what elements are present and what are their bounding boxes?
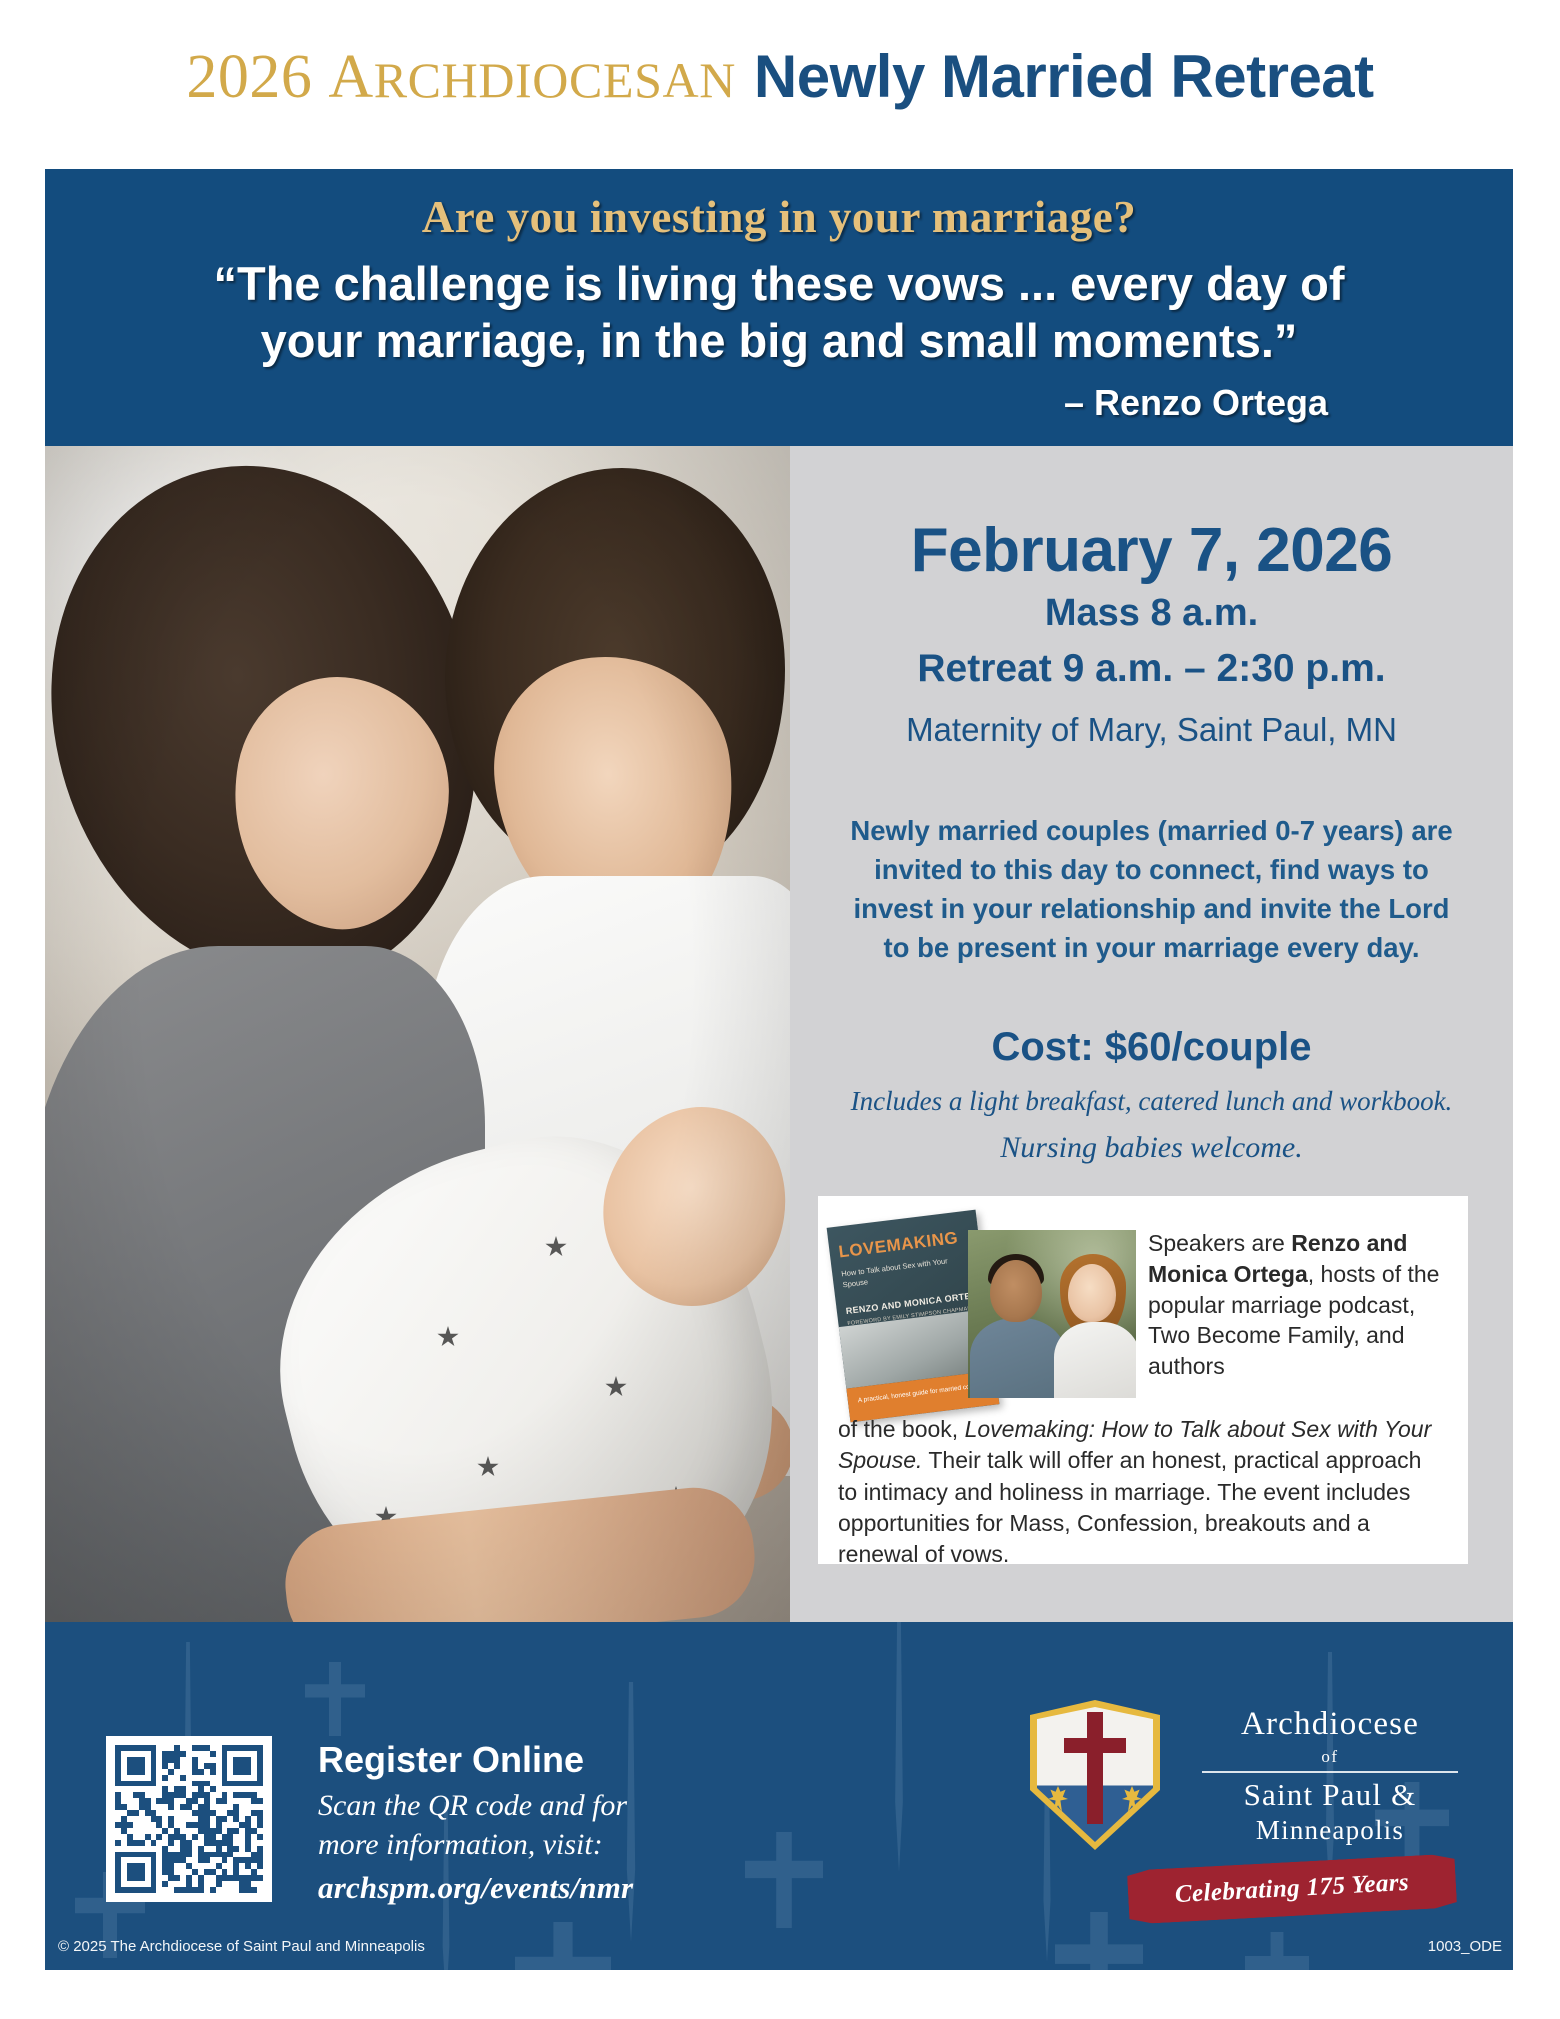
book-cover-band-text: A practical, honest guide for married co… (858, 1382, 986, 1405)
speakers-photo (968, 1230, 1136, 1398)
retreat-time: Retreat 9 a.m. – 2:30 p.m. (790, 644, 1513, 695)
archdiocese-wordmark: Archdiocese of Saint Paul & Minneapolis (1180, 1706, 1480, 1846)
register-title: Register Online (318, 1740, 798, 1780)
mass-time: Mass 8 a.m. (790, 589, 1513, 638)
job-code: 1003_ODE (1428, 1938, 1502, 1955)
speakers-bio-prefix: of the book, (838, 1416, 965, 1442)
title-year: 2026 (186, 43, 312, 111)
register-sub-line2: more information, visit: (318, 1825, 798, 1865)
title-retreat: Newly Married Retreat (754, 47, 1374, 107)
banner-attribution: – Renzo Ortega (45, 382, 1513, 424)
copyright-text: © 2025 The Archdiocese of Saint Paul and… (58, 1938, 425, 1955)
flyer-page: 2026 ARCHDIOCESAN Newly Married Retreat … (0, 0, 1560, 2019)
banner-quote-line1: “The challenge is living these vows ... … (165, 255, 1393, 312)
qr-code-pattern (115, 1745, 263, 1893)
logo-line-archdiocese: Archdiocese (1180, 1706, 1480, 1743)
qr-code[interactable] (106, 1736, 272, 1902)
event-date: February 7, 2026 (790, 518, 1513, 583)
logo-divider (1202, 1771, 1458, 1773)
quote-banner: Are you investing in your marriage? “The… (45, 169, 1513, 446)
couple-with-baby-photo (45, 446, 790, 1622)
speakers-bio-text: of the book, Lovemaking: How to Talk abo… (838, 1414, 1444, 1570)
speakers-intro-text: Speakers are Renzo and Monica Ortega, ho… (1148, 1228, 1444, 1382)
logo-line-minneapolis: Minneapolis (1180, 1815, 1480, 1846)
cost: Cost: $60/couple (790, 1025, 1513, 1070)
banner-question: Are you investing in your marriage? (45, 191, 1513, 243)
logo-line-of: of (1180, 1747, 1480, 1767)
event-description: Newly married couples (married 0-7 years… (790, 811, 1513, 967)
speakers-intro-line: Speakers are (1148, 1230, 1285, 1256)
register-block: Register Online Scan the QR code and for… (318, 1740, 798, 1906)
register-url[interactable]: archspm.org/events/nmr (318, 1870, 798, 1906)
nursing-note: Nursing babies welcome. (790, 1131, 1513, 1165)
register-sub-line1: Scan the QR code and for (318, 1786, 798, 1826)
title-year-archdiocesan: 2026 ARCHDIOCESAN (186, 46, 736, 108)
title-archdiocesan: ARCHDIOCESAN (328, 52, 736, 108)
venue: Maternity of Mary, Saint Paul, MN (790, 711, 1513, 749)
banner-quote: “The challenge is living these vows ... … (45, 255, 1513, 370)
page-title: 2026 ARCHDIOCESAN Newly Married Retreat (52, 46, 1508, 122)
speakers-bio-rest: Their talk will offer an honest, practic… (838, 1447, 1421, 1567)
cost-includes: Includes a light breakfast, catered lunc… (790, 1086, 1513, 1117)
archdiocese-shield-icon (1030, 1700, 1160, 1850)
speakers-box: LOVEMAKING How to Talk about Sex with Yo… (818, 1196, 1468, 1564)
banner-quote-line2: your marriage, in the big and small mome… (165, 312, 1393, 369)
logo-line-saint-paul: Saint Paul & (1180, 1777, 1480, 1813)
